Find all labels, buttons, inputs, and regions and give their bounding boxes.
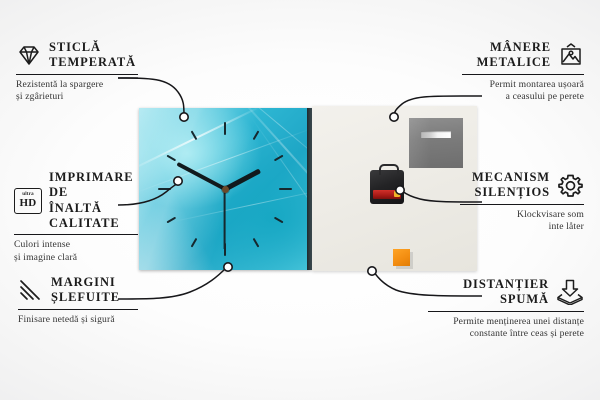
callout-tempered-glass: STICLĂ TEMPERATĂ Rezistentă la spargere … (16, 40, 138, 104)
callout-title: MARGINI ȘLEFUITE (51, 275, 120, 306)
callout-title: MECANISM SILENȚIOS (472, 170, 550, 201)
hanger-keyhole-slot (421, 131, 451, 138)
hour-tick-bar (224, 122, 226, 135)
minute-hand (176, 162, 226, 191)
callout-description: Permite menținerea unei distanțe constan… (428, 316, 584, 341)
callout-description: Finisare netedă și sigură (18, 314, 138, 326)
callout-description: Rezistentă la spargere și zgârieturi (16, 79, 138, 104)
foam-spacer-pad (393, 249, 410, 266)
hour-tick (253, 238, 260, 248)
callout-silent-mechanism: MECANISM SILENȚIOS Klockvisare som inte … (460, 170, 584, 234)
callout-title: STICLĂ TEMPERATĂ (49, 40, 136, 71)
callout-rule (460, 204, 584, 205)
callout-header: MÂNERE METALICE (462, 40, 584, 71)
hour-tick-bar (279, 188, 292, 190)
callout-header: ultra HD IMPRIMARE DE ÎNALTĂ CALITATE (14, 170, 138, 231)
hour-tick (191, 130, 198, 140)
ultra-hd-icon: ultra HD (14, 188, 42, 214)
hour-tick (158, 188, 171, 190)
callout-high-quality-print: ultra HD IMPRIMARE DE ÎNALTĂ CALITATE Cu… (14, 170, 138, 264)
callout-rule (16, 74, 138, 75)
callout-description: Klockvisare som inte låter (460, 209, 584, 234)
polished-edges-icon (18, 278, 44, 302)
callout-header: MARGINI ȘLEFUITE (18, 275, 138, 306)
hour-tick (224, 122, 226, 135)
hour-tick-bar (274, 155, 284, 162)
callout-header: MECANISM SILENȚIOS (460, 170, 584, 201)
gear-icon (557, 173, 584, 198)
hour-tick (166, 217, 176, 224)
hour-tick (279, 188, 292, 190)
hour-tick-bar (274, 217, 284, 224)
callout-rule (14, 234, 138, 235)
hour-tick-bar (253, 130, 260, 140)
metal-hanger-plate (409, 118, 463, 168)
hour-tick (253, 130, 260, 140)
diamond-icon (16, 43, 42, 67)
hour-tick-bar (253, 238, 260, 248)
hour-tick-bar (158, 188, 171, 190)
callout-title: IMPRIMARE DE ÎNALTĂ CALITATE (49, 170, 138, 231)
hour-tick (166, 155, 176, 162)
battery (373, 190, 401, 199)
callout-title: DISTANȚIER SPUMĂ (463, 277, 549, 308)
hour-tick-bar (191, 130, 198, 140)
callout-rule (18, 309, 138, 310)
movement-hanger-loop (379, 164, 399, 175)
callout-metal-handles: MÂNERE METALICE Permit montarea ușoară a… (462, 40, 584, 104)
hand-center-cap (222, 186, 229, 193)
hour-hand (224, 168, 261, 191)
down-arrow-pad-icon (556, 279, 584, 305)
battery-plus-terminal (394, 191, 400, 197)
callout-description: Permit montarea ușoară a ceasului pe per… (462, 79, 584, 104)
hour-tick-bar (166, 217, 176, 224)
clock-dial (139, 108, 311, 270)
callout-header: DISTANȚIER SPUMĂ (428, 277, 584, 308)
hour-tick-bar (191, 238, 198, 248)
hanging-frame-icon (558, 43, 584, 67)
hour-tick-bar (166, 155, 176, 162)
hour-tick (191, 238, 198, 248)
hour-tick (274, 155, 284, 162)
callout-title: MÂNERE METALICE (477, 40, 551, 71)
callout-header: STICLĂ TEMPERATĂ (16, 40, 138, 71)
second-hand (224, 189, 226, 249)
callout-polished-edges: MARGINI ȘLEFUITE Finisare netedă și sigu… (18, 275, 138, 326)
infographic-canvas: STICLĂ TEMPERATĂ Rezistentă la spargere … (0, 0, 600, 400)
callout-rule (462, 74, 584, 75)
callout-rule (428, 311, 584, 312)
hour-tick (274, 217, 284, 224)
quartz-movement-box (370, 170, 404, 204)
callout-foam-spacer: DISTANȚIER SPUMĂ Permite menținerea unei… (428, 277, 584, 341)
callout-description: Culori intense și imagine clară (14, 239, 138, 264)
